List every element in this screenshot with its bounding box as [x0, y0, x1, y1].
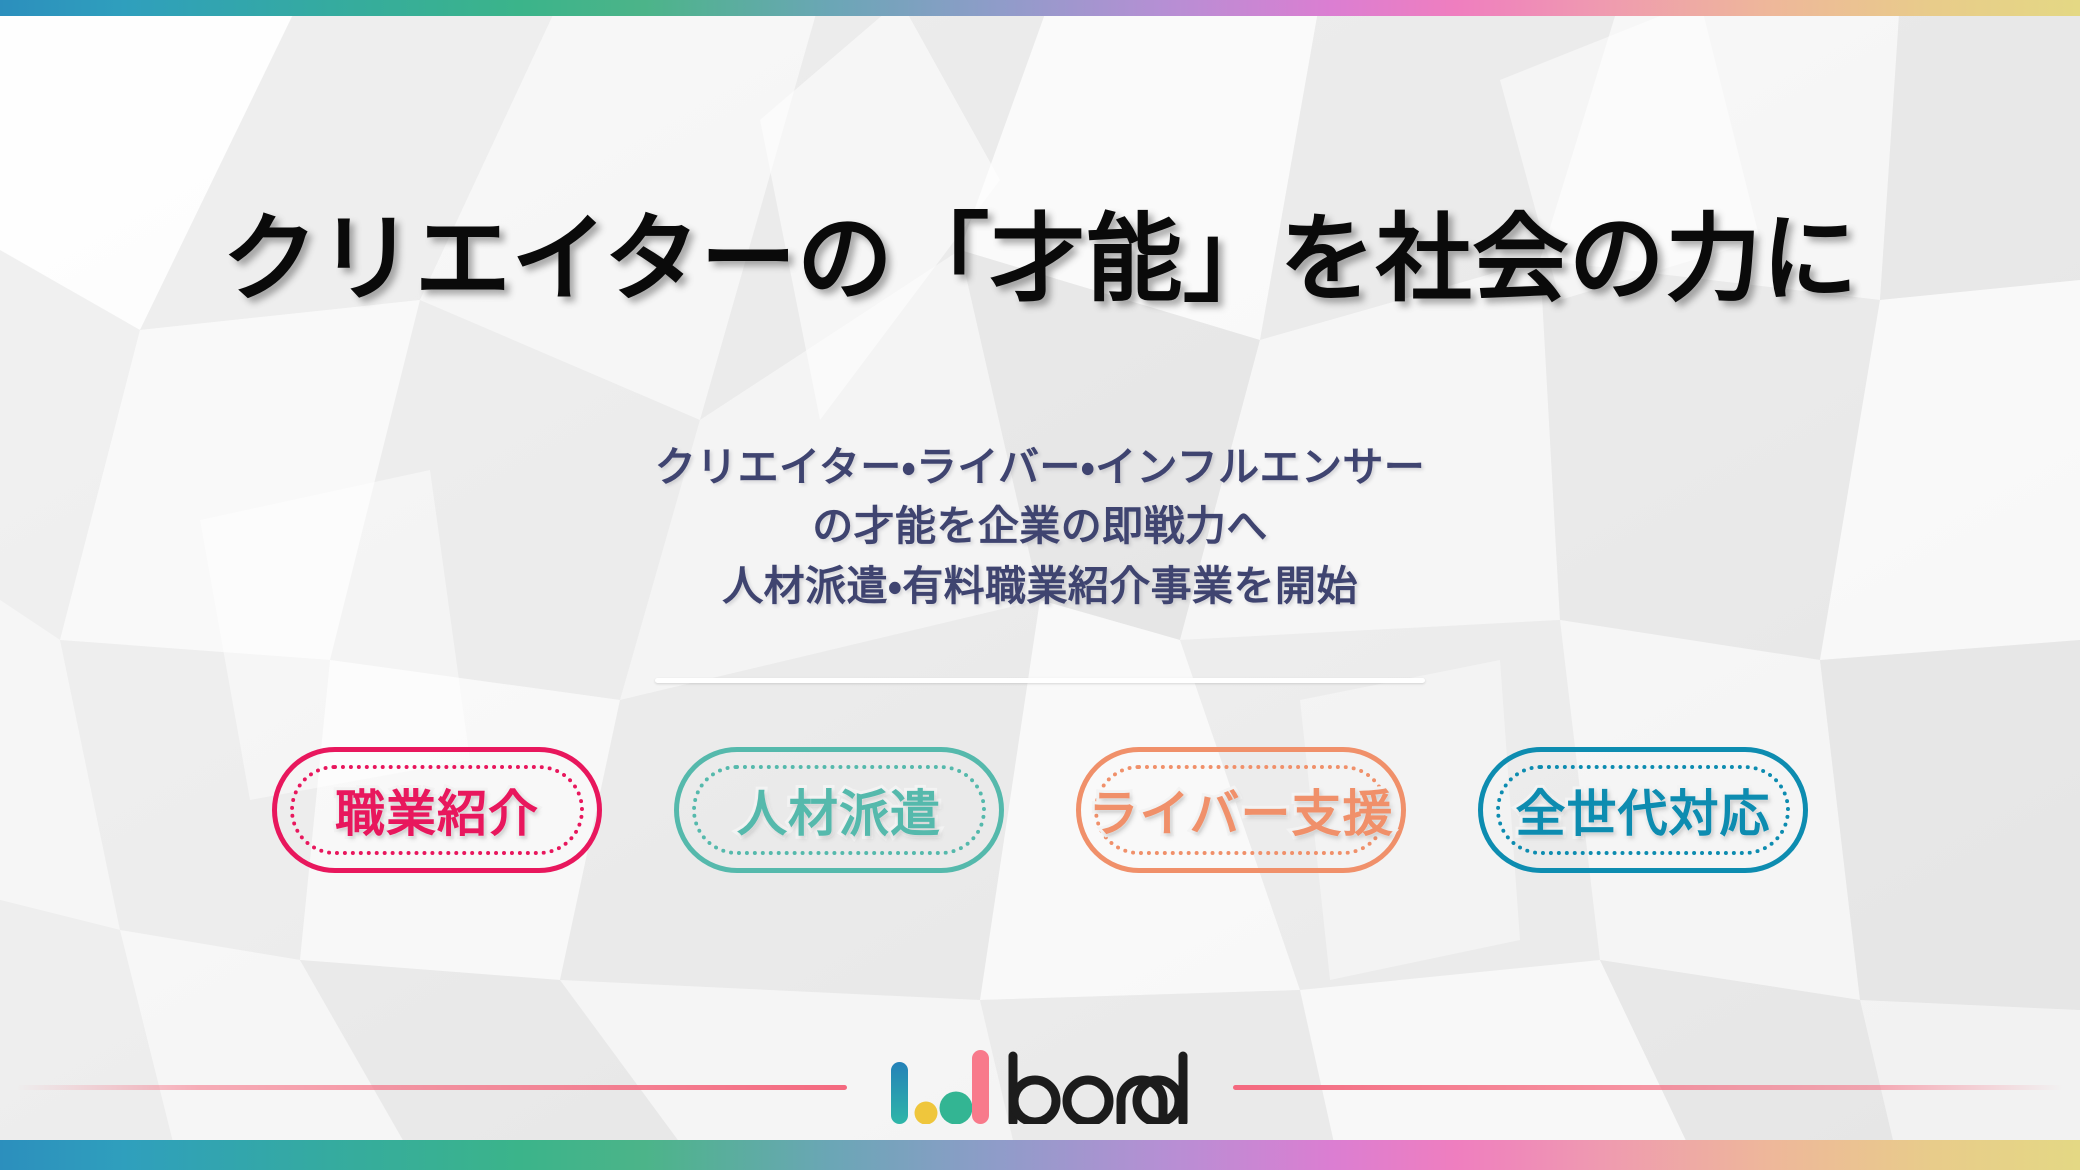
- badge-row: 職業紹介 人材派遣 ライバー支援 全世代対応: [272, 747, 1808, 873]
- footer: [0, 1050, 2080, 1124]
- presentation-slide: クリエイターの「才能」を社会の力に クリエイター・ライバー・インフルエンサー の…: [0, 0, 2080, 1170]
- badge-jinzai-haken[interactable]: 人材派遣: [674, 747, 1004, 873]
- subtitle-line-3: 人材派遣・有料職業紹介事業を開始: [655, 557, 1425, 616]
- badge-label: ライバー支援: [1089, 774, 1394, 846]
- footer-rule-left: [17, 1085, 847, 1090]
- subtitle-block: クリエイター・ライバー・インフルエンサー の才能を企業の即戦力へ 人材派遣・有料…: [655, 438, 1425, 616]
- brand-logo[interactable]: [847, 1050, 1233, 1124]
- footer-rule-right: [1233, 1085, 2063, 1090]
- badge-label: 人材派遣: [737, 774, 941, 846]
- bottom-gradient-bar: [0, 1140, 2080, 1170]
- bond-wordmark: [1007, 1050, 1189, 1124]
- badge-label: 職業紹介: [335, 774, 539, 846]
- badge-shokugyo-shokai[interactable]: 職業紹介: [272, 747, 602, 873]
- subtitle-line-1: クリエイター・ライバー・インフルエンサー: [655, 438, 1425, 497]
- slide-content: クリエイターの「才能」を社会の力に クリエイター・ライバー・インフルエンサー の…: [0, 0, 2080, 1170]
- page-title: クリエイターの「才能」を社会の力に: [222, 208, 1858, 312]
- badge-zensedai-taio[interactable]: 全世代対応: [1478, 747, 1808, 873]
- subtitle-line-2: の才能を企業の即戦力へ: [655, 497, 1425, 556]
- horizontal-divider: [655, 678, 1425, 683]
- bond-bars-logo-icon: [891, 1050, 989, 1124]
- top-gradient-bar: [0, 0, 2080, 16]
- badge-liver-shien[interactable]: ライバー支援: [1076, 747, 1406, 873]
- badge-label: 全世代対応: [1516, 774, 1771, 846]
